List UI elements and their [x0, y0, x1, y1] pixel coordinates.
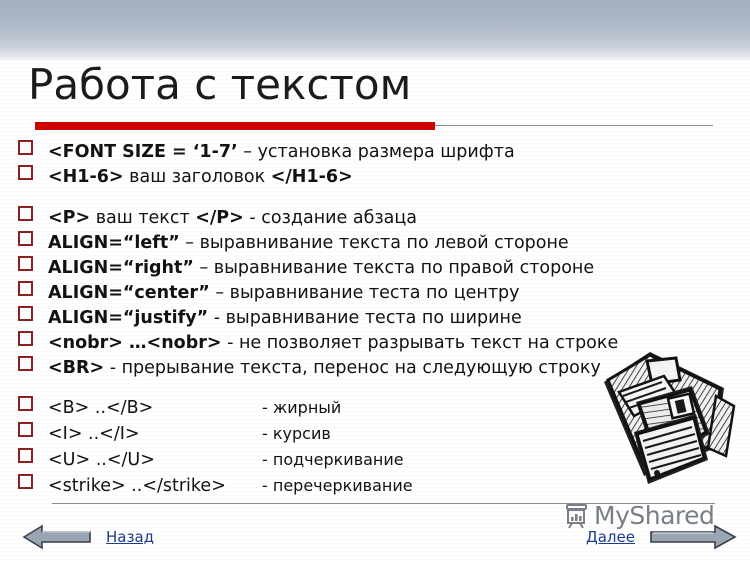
square-bullet-icon [18, 140, 33, 155]
list-item-text: ALIGN=“justify” - выравнивание теста по … [48, 307, 732, 329]
list-item: ALIGN=“right” – выравнивание текста по п… [18, 257, 732, 282]
tag-code-close: </H1-6> [271, 167, 353, 187]
tag-code: <U> ..</U> [48, 450, 262, 470]
tag-description: ваш текст [90, 208, 195, 228]
tag-code: ALIGN=“justify” [48, 308, 208, 328]
square-bullet-icon [18, 396, 33, 411]
square-bullet-icon [18, 206, 33, 221]
list-item-text: <BR> - прерывание текста, перенос на сле… [48, 357, 732, 379]
square-bullet-icon [18, 165, 33, 180]
tag-code-close: </P> [195, 208, 244, 228]
list-item: <I> ..</I> - курсив [18, 424, 732, 450]
tag-code: ALIGN=“right” [48, 258, 194, 278]
list-item-text: ALIGN=“center” – выравнивание теста по ц… [48, 282, 732, 304]
arrow-left-icon[interactable] [22, 524, 92, 550]
title-divider [35, 122, 713, 130]
tag-description: - выравнивание теста по ширине [208, 308, 522, 328]
tag-description: - жирный [262, 398, 341, 417]
tag-description: - подчеркивание [262, 450, 404, 469]
tag-code: ALIGN=“center” [48, 283, 210, 303]
next-navigation[interactable]: Далее [586, 524, 737, 550]
list-item-text: ALIGN=“right” – выравнивание текста по п… [48, 257, 732, 279]
next-link-label[interactable]: Далее [586, 528, 635, 546]
tag-description: – выравнивание текста по левой стороне [180, 233, 569, 253]
tag-code: <B> ..</B> [48, 398, 262, 418]
back-navigation[interactable]: Назад [22, 524, 154, 550]
square-bullet-icon [18, 356, 33, 371]
square-bullet-icon [18, 448, 33, 463]
list-item: <P> ваш текст </P> - создание абзаца [18, 207, 732, 232]
tag-code: <strike> ..</strike> [48, 476, 262, 496]
tag-code: <I> ..</I> [48, 424, 262, 444]
square-bullet-icon [18, 422, 33, 437]
list-item: <H1-6> ваш заголовок </H1-6> [18, 166, 732, 191]
list-item: <B> ..</B> - жирный [18, 398, 732, 424]
list-item-text: <FONT SIZE = ‘1-7’ – установка размера ш… [48, 141, 732, 163]
tag-code: <P> [48, 208, 90, 228]
group-spacer [18, 382, 732, 398]
list-item-text: <H1-6> ваш заголовок </H1-6> [48, 166, 732, 188]
header-gradient-band [0, 0, 750, 62]
list-item: ALIGN=“center” – выравнивание теста по ц… [18, 282, 732, 307]
tag-code: <BR> [48, 358, 104, 378]
list-item: <nobr> …<nobr> - не позволяет разрывать … [18, 332, 732, 357]
arrow-right-icon[interactable] [649, 524, 737, 550]
red-accent-bar [35, 122, 435, 130]
list-item: <BR> - прерывание текста, перенос на сле… [18, 357, 732, 382]
list-item: <strike> ..</strike> - перечеркивание [18, 476, 732, 502]
square-bullet-icon [18, 256, 33, 271]
list-item: <U> ..</U> - подчеркивание [18, 450, 732, 476]
presentation-slide: Работа с текстом <FONT SIZE = ‘1-7’ – ус… [0, 0, 750, 562]
tag-description: – выравнивание текста по правой стороне [194, 258, 594, 278]
square-bullet-icon [18, 474, 33, 489]
tag-description-2: - создание абзаца [244, 208, 417, 228]
tag-code: <nobr> …<nobr> [48, 333, 222, 353]
tag-code: ALIGN=“left” [48, 233, 180, 253]
square-bullet-icon [18, 281, 33, 296]
tag-description: ваш заголовок [124, 167, 271, 187]
tag-description: - прерывание текста, перенос на следующу… [104, 358, 601, 378]
list-item-text: <P> ваш текст </P> - создание абзаца [48, 207, 732, 229]
list-item: ALIGN=“justify” - выравнивание теста по … [18, 307, 732, 332]
tag-description: - не позволяет разрывать текст на строке [222, 333, 619, 353]
square-bullet-icon [18, 306, 33, 321]
list-item-text: <nobr> …<nobr> - не позволяет разрывать … [48, 332, 732, 354]
tag-description: – установка размера шрифта [238, 142, 515, 162]
list-item-text: ALIGN=“left” – выравнивание текста по ле… [48, 232, 732, 254]
tag-description: - курсив [262, 424, 331, 443]
square-bullet-icon [18, 331, 33, 346]
content-list: <FONT SIZE = ‘1-7’ – установка размера ш… [18, 141, 732, 502]
tag-description: – выравнивание теста по центру [210, 283, 520, 303]
tag-code: <FONT SIZE = ‘1-7’ [48, 142, 238, 162]
thin-gray-rule [435, 125, 713, 126]
square-bullet-icon [18, 231, 33, 246]
group-spacer [18, 191, 732, 207]
page-title: Работа с текстом [28, 60, 411, 109]
tag-code: <H1-6> [48, 167, 124, 187]
list-item: ALIGN=“left” – выравнивание текста по ле… [18, 232, 732, 257]
tag-description: - перечеркивание [262, 476, 413, 495]
list-item: <FONT SIZE = ‘1-7’ – установка размера ш… [18, 141, 732, 166]
back-link-label[interactable]: Назад [106, 528, 154, 546]
